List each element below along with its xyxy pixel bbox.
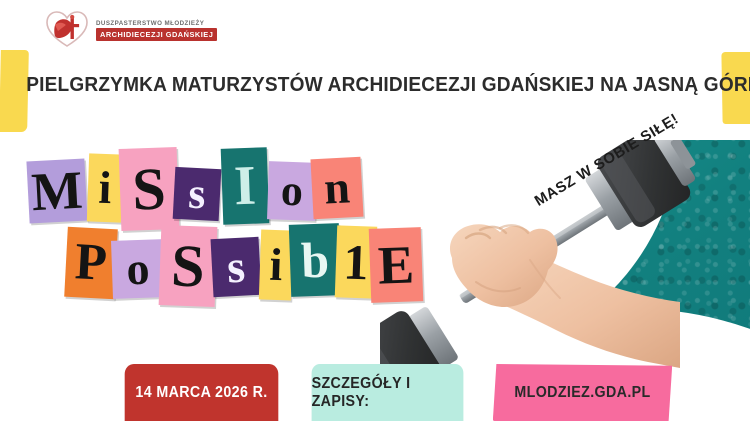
title-letter-tile: n (310, 157, 363, 220)
website-url-badge[interactable]: MLODZIEZ.GDA.PL (493, 364, 672, 421)
title-letter-tile: M (26, 159, 87, 224)
event-date-badge: 14 MARCA 2026 R. (125, 364, 279, 421)
title-letter-tile: o (111, 239, 165, 299)
title-letter-tile: E (369, 227, 424, 303)
title-letter-tile: o (267, 161, 317, 221)
logo-text-block: DUSZPASTERSTWO MŁODZIEŻY ARCHIDIECEZJI G… (96, 17, 217, 41)
organization-logo: DUSZPASTERSTWO MŁODZIEŻY ARCHIDIECEZJI G… (44, 9, 217, 49)
title-letter-tile: I (221, 147, 270, 225)
ransom-note-title: MiSsIonPoSsib1E (14, 140, 434, 340)
title-letter-tile: s (211, 237, 262, 297)
title-letter-tile: P (64, 227, 118, 300)
title-letter-tile: i (259, 229, 293, 300)
details-label-badge: SZCZEGÓŁY I ZAPISY: (312, 364, 464, 421)
page-title: PIELGRZYMKA MATURZYSTÓW ARCHIDIECEZJI GD… (26, 73, 724, 97)
heart-dove-cross-icon (44, 9, 90, 49)
poster-canvas: DUSZPASTERSTWO MŁODZIEŻY ARCHIDIECEZJI G… (0, 0, 750, 421)
title-letter-tile: S (119, 147, 180, 231)
title-letter-tile: i (87, 153, 123, 222)
logo-line-1: DUSZPASTERSTWO MŁODZIEŻY (96, 20, 217, 27)
title-letter-tile: S (159, 225, 218, 307)
title-letter-tile: b (289, 223, 341, 297)
logo-line-2: ARCHIDIECEZJI GDAŃSKIEJ (96, 28, 217, 41)
yellow-accent-left (0, 50, 29, 132)
title-letter-tile: s (173, 167, 222, 221)
